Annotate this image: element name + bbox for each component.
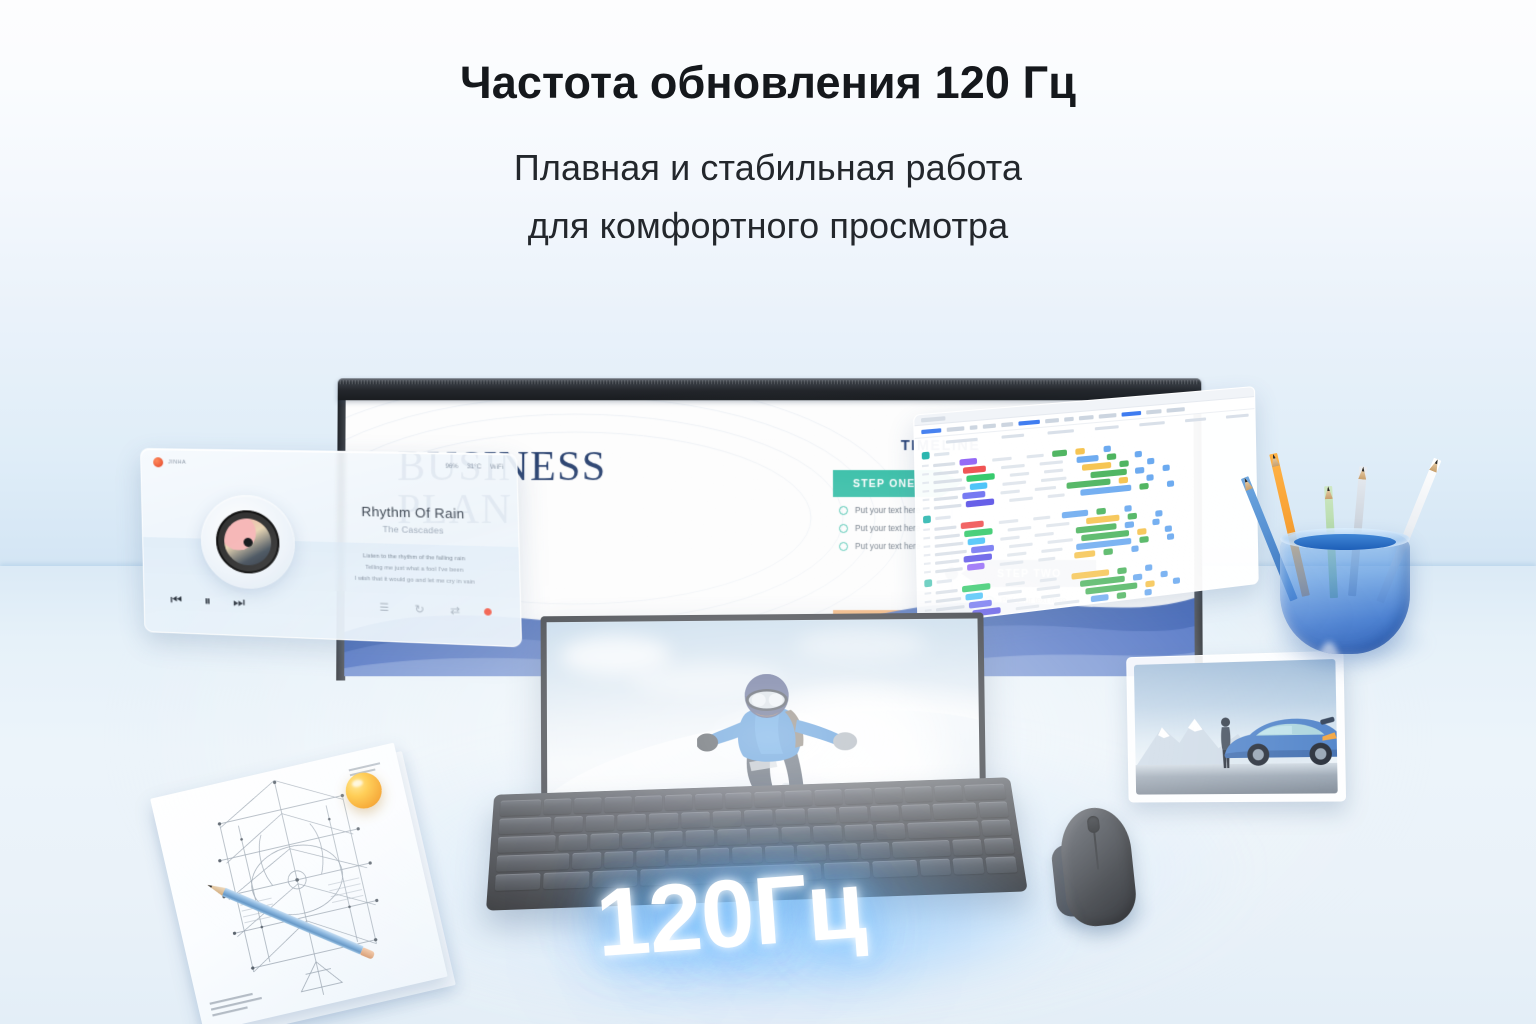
keyboard-key[interactable] [781, 826, 811, 843]
row-cell [1048, 493, 1065, 498]
keyboard-key[interactable] [590, 833, 619, 850]
row-index [923, 498, 930, 501]
column-header[interactable] [1047, 429, 1073, 434]
lyrics-panel: Listen to the rhythm of the falling rain… [314, 550, 518, 590]
row-cell [1044, 468, 1063, 473]
row-cell [1002, 480, 1026, 485]
keyboard-key[interactable] [554, 816, 583, 832]
row-cell [992, 456, 1011, 461]
gantt-bar-small[interactable] [1128, 513, 1137, 520]
timeline-bullet: Put your text here [839, 506, 920, 515]
keyboard-key[interactable] [649, 813, 678, 829]
timeline-marker[interactable] [1104, 445, 1111, 452]
row-cell [1041, 593, 1060, 598]
player-top-bar: JINHA 96% 31°C WiFi [141, 449, 517, 482]
gantt-bar-small[interactable] [1139, 483, 1148, 490]
keyboard-key[interactable] [870, 805, 900, 821]
row-cell [1010, 471, 1029, 476]
keyboard-key[interactable] [713, 811, 742, 827]
timeline-marker[interactable] [1167, 480, 1174, 487]
track-title: Rhythm Of Rain [323, 503, 505, 523]
gantt-bar-small[interactable] [1117, 567, 1126, 574]
row-index [924, 554, 931, 557]
row-title [934, 533, 959, 539]
keyboard-key[interactable] [686, 830, 715, 847]
next-track-icon[interactable]: ⏭ [233, 594, 245, 611]
row-index [922, 473, 929, 476]
row-cell [1005, 581, 1024, 586]
track-artist: The Cascades [323, 522, 505, 537]
keyboard-key[interactable] [574, 797, 602, 813]
keyboard-key[interactable] [725, 792, 753, 808]
row-cell [1047, 538, 1072, 544]
timeline-marker[interactable] [1147, 458, 1154, 465]
toolbar-button[interactable] [1079, 415, 1094, 420]
column-header[interactable] [1226, 413, 1249, 418]
toolbar-button[interactable] [1167, 407, 1185, 413]
timeline-marker[interactable] [1145, 589, 1152, 596]
row-cell [1000, 560, 1024, 566]
timeline-marker[interactable] [1173, 577, 1180, 584]
keyboard-key[interactable] [586, 815, 615, 831]
mouse-scroll-wheel[interactable] [1087, 815, 1101, 833]
gantt-bar-small[interactable] [1133, 574, 1142, 581]
toolbar-button[interactable] [947, 426, 965, 432]
previous-track-icon[interactable]: ⏮ [170, 592, 182, 609]
row-index [923, 528, 930, 531]
keyboard-key[interactable] [604, 851, 633, 868]
keyboard-key[interactable] [844, 824, 874, 841]
gantt-bar-small[interactable] [1139, 536, 1148, 543]
row-title [933, 461, 955, 466]
promo-subtitle-line-2: для комфортного просмотра [0, 197, 1536, 255]
board-tab[interactable] [921, 416, 945, 422]
row-cell [1000, 489, 1019, 494]
keyboard-key[interactable] [497, 835, 556, 853]
timeline-marker[interactable] [1146, 474, 1153, 481]
row-cell [1009, 542, 1033, 548]
keyboard-key[interactable] [718, 829, 747, 846]
gantt-bar-small[interactable] [1145, 580, 1154, 587]
player-logo-label: JINHA [168, 459, 186, 465]
cup-highlight [1316, 642, 1342, 654]
keyboard-key[interactable] [776, 808, 805, 824]
keyboard-key[interactable] [807, 807, 837, 823]
keyboard-key[interactable] [617, 814, 646, 830]
row-cell [1009, 496, 1033, 502]
toolbar-button[interactable] [1001, 421, 1013, 426]
row-index [925, 609, 932, 612]
row-cell [998, 589, 1022, 595]
row-cell [1000, 535, 1019, 540]
timeline-step-one-label: STEP ONE [853, 478, 915, 490]
group-color-dot [924, 579, 932, 587]
album-artwork [224, 518, 272, 566]
row-index [923, 537, 930, 540]
keyboard-key[interactable] [495, 873, 541, 891]
row-cell [1040, 460, 1063, 465]
column-header[interactable] [1139, 421, 1165, 426]
row-index [924, 562, 931, 565]
column-header[interactable] [1185, 417, 1206, 422]
toolbar-button[interactable] [970, 425, 978, 430]
keyboard-key[interactable] [981, 819, 1012, 836]
keyboard-key[interactable] [544, 798, 572, 814]
keyboard-key[interactable] [907, 821, 980, 839]
group-title [934, 452, 950, 457]
music-player-window[interactable]: JINHA 96% 31°C WiFi Rhythm Of Rain The C… [140, 448, 522, 647]
timeline-marker[interactable] [1131, 545, 1138, 552]
row-cell [1037, 585, 1060, 591]
keyboard-key[interactable] [622, 832, 651, 849]
row-cell [999, 518, 1018, 523]
keyboard-key[interactable] [665, 794, 692, 810]
toolbar-button[interactable] [1064, 416, 1074, 421]
group-title [935, 515, 951, 520]
keyboard-key[interactable] [978, 801, 1009, 817]
repeat-icon[interactable]: ↻ [414, 602, 424, 616]
keyboard-key[interactable] [755, 791, 783, 807]
keyboard-key[interactable] [933, 802, 978, 819]
keyboard-key[interactable] [604, 796, 631, 812]
photo-frame-window[interactable] [1126, 651, 1346, 803]
row-cell [1046, 521, 1069, 527]
shuffle-icon[interactable]: ⇄ [450, 603, 460, 617]
row-title [934, 495, 958, 501]
keyboard-key[interactable] [964, 784, 1006, 800]
gantt-bar-small[interactable] [1117, 592, 1126, 599]
timeline-marker[interactable] [1135, 451, 1142, 458]
keyboard-key[interactable] [904, 786, 933, 802]
record-indicator-icon[interactable] [484, 608, 492, 616]
playlist-icon[interactable]: ☰ [379, 602, 389, 614]
keyboard-key[interactable] [543, 871, 589, 889]
gantt-bar-small[interactable] [1137, 528, 1146, 535]
toolbar-button[interactable] [1045, 417, 1059, 422]
row-cell [1033, 515, 1050, 520]
bullet-ring-icon [839, 524, 848, 533]
gantt-bar-small[interactable] [1135, 467, 1144, 474]
row-cell [1008, 525, 1032, 531]
cup-glass-body [1280, 532, 1410, 654]
row-cell [1007, 597, 1026, 602]
brand-mark-icon [153, 457, 163, 467]
row-index [922, 481, 929, 484]
group-color-dot [923, 515, 931, 523]
gantt-bar-small[interactable] [1103, 548, 1112, 555]
keyboard-key[interactable] [875, 823, 905, 840]
group-color-dot [922, 452, 930, 460]
bullet-ring-icon [839, 506, 848, 515]
row-index [922, 490, 929, 493]
gantt-bar-small[interactable] [1119, 460, 1128, 467]
timeline-marker[interactable] [1165, 525, 1172, 532]
toolbar-button[interactable] [1099, 413, 1117, 419]
row-cell [1040, 577, 1057, 582]
row-index [924, 545, 931, 548]
toolbar-button[interactable] [1018, 419, 1039, 425]
row-cell [1001, 463, 1025, 468]
row-title [936, 588, 958, 594]
mouse[interactable] [1047, 804, 1143, 932]
row-cell [1027, 453, 1044, 458]
row-title [933, 470, 958, 476]
monitor-top-bezel [338, 378, 1202, 400]
project-board-window[interactable] [913, 386, 1259, 626]
row-index [925, 600, 932, 603]
keyboard-key[interactable] [500, 799, 542, 816]
battery-status: 96% [445, 464, 458, 470]
promo-subtitle-line-1: Плавная и стабильная работа [0, 139, 1536, 197]
row-cell [1041, 476, 1066, 482]
timeline-marker[interactable] [1163, 464, 1170, 471]
row-title [934, 503, 962, 509]
pencil-cup [1256, 444, 1446, 660]
temperature-status: 31°C [467, 464, 482, 471]
timeline-marker[interactable] [1145, 564, 1152, 571]
column-header[interactable] [1001, 433, 1024, 438]
vinyl-disc-icon [215, 510, 280, 575]
toolbar-button[interactable] [1122, 410, 1142, 416]
timeline-marker[interactable] [1167, 533, 1174, 540]
row-title [935, 558, 959, 564]
row-cell [1035, 531, 1054, 536]
row-index [923, 507, 930, 510]
row-title [933, 478, 962, 484]
keyboard-key[interactable] [496, 853, 570, 872]
keyboard-key[interactable] [681, 812, 710, 828]
car [1222, 710, 1338, 768]
keyboard-key[interactable] [558, 834, 587, 851]
gantt-bar-small[interactable] [1075, 448, 1085, 455]
photo-scene-car-mountains [1134, 659, 1338, 795]
cup-inner-well [1294, 534, 1396, 550]
row-cell [1035, 485, 1056, 490]
gantt-bar-small[interactable] [1107, 453, 1116, 460]
timeline-marker[interactable] [1155, 510, 1162, 517]
keyboard-key[interactable] [749, 827, 778, 844]
keyboard-key[interactable] [744, 809, 773, 825]
timeline-bullet: Put your text here [839, 524, 921, 533]
column-header[interactable] [1095, 425, 1119, 430]
keyboard-key[interactable] [844, 788, 872, 804]
timeline-marker[interactable] [1124, 505, 1131, 512]
keyboard-key[interactable] [934, 785, 963, 801]
promo-subtitle: Плавная и стабильная работа для комфортн… [0, 139, 1536, 256]
keyboard-key[interactable] [695, 793, 722, 809]
keyboard-key[interactable] [901, 804, 931, 820]
promo-headline: Частота обновления 120 Гц [0, 56, 1536, 109]
keyboard-key[interactable] [815, 789, 843, 805]
column-header[interactable] [946, 437, 978, 443]
group-title [937, 579, 952, 584]
row-index [922, 464, 929, 467]
gantt-bar-small[interactable] [1119, 477, 1128, 484]
keyboard-key[interactable] [499, 817, 552, 834]
keyboard-key[interactable] [635, 795, 662, 811]
player-status-indicators: 96% 31°C WiFi [445, 464, 503, 471]
keyboard-key[interactable] [812, 825, 842, 842]
keyboard-key[interactable] [785, 790, 813, 806]
keyboard-key[interactable] [839, 806, 869, 822]
pause-icon[interactable]: ⏸ [204, 593, 211, 609]
timeline-marker[interactable] [1161, 571, 1168, 578]
promo-text-block: Частота обновления 120 Гц Плавная и стаб… [0, 56, 1536, 256]
player-logo: JINHA [153, 457, 186, 468]
row-index [924, 571, 931, 574]
toolbar-button[interactable] [983, 423, 996, 428]
row-cell [1041, 547, 1062, 552]
toolbar-button[interactable] [1146, 409, 1161, 414]
row-index [925, 592, 932, 595]
timeline-marker[interactable] [1152, 518, 1159, 525]
keyboard-key[interactable] [654, 831, 683, 848]
keyboard-key[interactable] [874, 787, 902, 803]
toolbar-button[interactable] [921, 428, 941, 434]
player-track-meta: Rhythm Of Rain The Cascades [323, 503, 505, 537]
promo-banner: Частота обновления 120 Гц Плавная и стаб… [0, 0, 1536, 1024]
gantt-bar-small[interactable] [1125, 521, 1134, 528]
gantt-bar-small[interactable] [1096, 508, 1105, 515]
keyboard-key[interactable] [572, 852, 602, 869]
row-cell [1038, 556, 1055, 561]
row-cell [1007, 551, 1026, 556]
row-title [934, 525, 956, 530]
wifi-status: WiFi [490, 464, 503, 471]
